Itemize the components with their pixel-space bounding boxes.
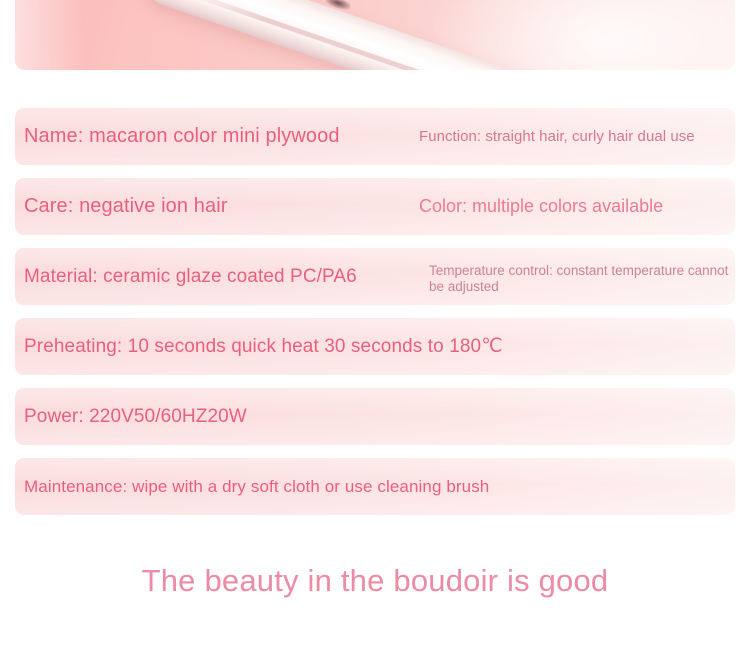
spec-label-preheating: Preheating: 10 seconds quick heat 30 sec… [15, 335, 503, 358]
spec-row-maintenance: Maintenance: wipe with a dry soft cloth … [15, 458, 735, 515]
photo-left-fade [15, 0, 85, 70]
product-photo [15, 0, 735, 70]
spec-label-care: Care: negative ion hair [15, 195, 228, 218]
spec-row-name: Name: macaron color mini plywood Functio… [15, 108, 735, 165]
spec-row-preheating: Preheating: 10 seconds quick heat 30 sec… [15, 318, 735, 375]
spec-row-care: Care: negative ion hair Color: multiple … [15, 178, 735, 235]
spec-row-power: Power: 220V50/60HZ20W [15, 388, 735, 445]
spec-value-function: Function: straight hair, curly hair dual… [419, 128, 695, 145]
tagline: The beauty in the boudoir is good [0, 563, 750, 599]
spec-label-maintenance: Maintenance: wipe with a dry soft cloth … [15, 477, 489, 497]
specification-list: Name: macaron color mini plywood Functio… [15, 108, 735, 528]
spec-label-name: Name: macaron color mini plywood [15, 125, 340, 148]
spec-value-color: Color: multiple colors available [419, 196, 663, 217]
spec-value-temperature-control: Temperature control: constant temperatur… [429, 263, 729, 295]
spec-label-power: Power: 220V50/60HZ20W [15, 406, 247, 428]
spec-label-material: Material: ceramic glaze coated PC/PA6 [15, 266, 357, 288]
spec-row-material: Material: ceramic glaze coated PC/PA6 Te… [15, 248, 735, 305]
